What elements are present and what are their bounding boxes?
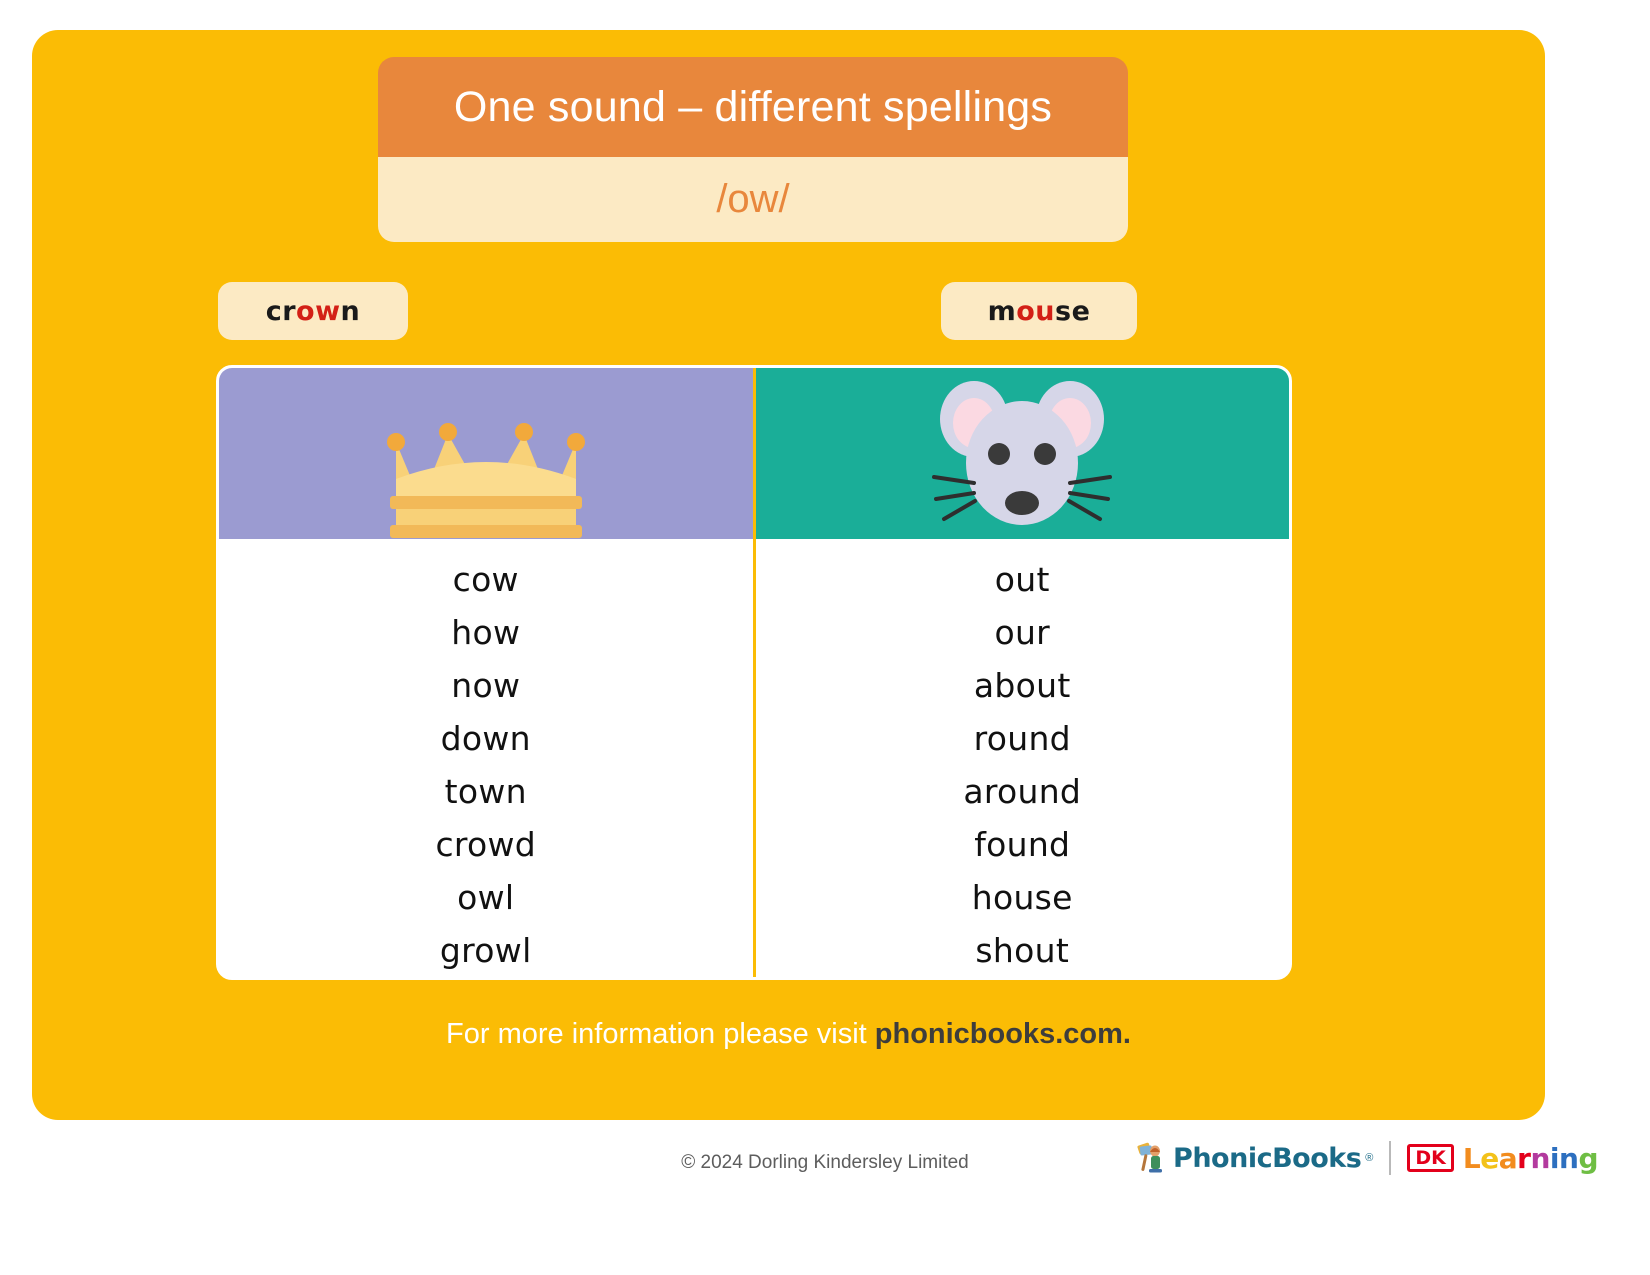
visit-site[interactable]: phonicbooks.com. <box>875 1018 1131 1050</box>
mouse-chip-highlight: ou <box>1016 296 1055 327</box>
list-item: found <box>974 818 1070 871</box>
column-mouse: out our about round around found house s… <box>756 368 1290 977</box>
list-item: our <box>994 606 1050 659</box>
mouse-panel <box>756 368 1290 539</box>
mouse-illustration <box>922 371 1122 539</box>
visit-prefix: For more information please visit <box>446 1018 875 1050</box>
logo-row: PhonicBooks® DK Learning <box>1135 1140 1598 1176</box>
word-table: cow how now down town crowd owl growl <box>216 365 1292 980</box>
dk-learning-logo: DK Learning <box>1407 1142 1598 1175</box>
phonicbooks-wordmark: PhonicBooks <box>1173 1143 1361 1174</box>
logo-divider <box>1389 1141 1391 1175</box>
list-item: round <box>974 712 1071 765</box>
title-bar: One sound – different spellings <box>378 57 1128 157</box>
crown-panel <box>219 368 753 539</box>
list-item: how <box>451 606 520 659</box>
list-item: growl <box>440 924 532 977</box>
crown-chip-before: cr <box>266 296 296 327</box>
column-crown: cow how now down town crowd owl growl <box>219 368 756 977</box>
mouse-chip: mouse <box>941 282 1137 340</box>
crown-word-list: cow how now down town crowd owl growl <box>219 539 753 977</box>
list-item: house <box>972 871 1073 924</box>
chips-row: crown mouse <box>218 282 1298 340</box>
list-item: out <box>995 553 1050 606</box>
crown-chip: crown <box>218 282 408 340</box>
page-title: One sound – different spellings <box>454 83 1052 132</box>
worksheet-page: One sound – different spellings /ow/ cro… <box>0 0 1650 1275</box>
list-item: around <box>963 765 1081 818</box>
sound-label: /ow/ <box>716 177 789 222</box>
list-item: town <box>445 765 527 818</box>
list-item: down <box>441 712 531 765</box>
crown-illustration <box>376 384 596 539</box>
list-item: cow <box>453 553 519 606</box>
mouse-word-list: out our about round around found house s… <box>756 539 1290 977</box>
dk-mark: DK <box>1407 1144 1454 1172</box>
list-item: crowd <box>435 818 536 871</box>
phonicbooks-logo: PhonicBooks® <box>1135 1140 1373 1176</box>
list-item: owl <box>457 871 514 924</box>
sound-bar: /ow/ <box>378 157 1128 242</box>
title-block: One sound – different spellings /ow/ <box>378 57 1128 242</box>
visit-line: For more information please visit phonic… <box>32 1018 1545 1051</box>
dk-learning-wordmark: Learning <box>1463 1142 1598 1175</box>
crown-chip-after: n <box>341 296 361 327</box>
list-item: shout <box>975 924 1069 977</box>
phonicbooks-mascot-icon <box>1135 1140 1169 1176</box>
list-item: now <box>451 659 520 712</box>
phonicbooks-registered-icon: ® <box>1365 1152 1373 1164</box>
crown-chip-highlight: ow <box>296 296 341 327</box>
mouse-chip-after: se <box>1055 296 1090 327</box>
mouse-chip-before: m <box>988 296 1017 327</box>
list-item: about <box>974 659 1071 712</box>
